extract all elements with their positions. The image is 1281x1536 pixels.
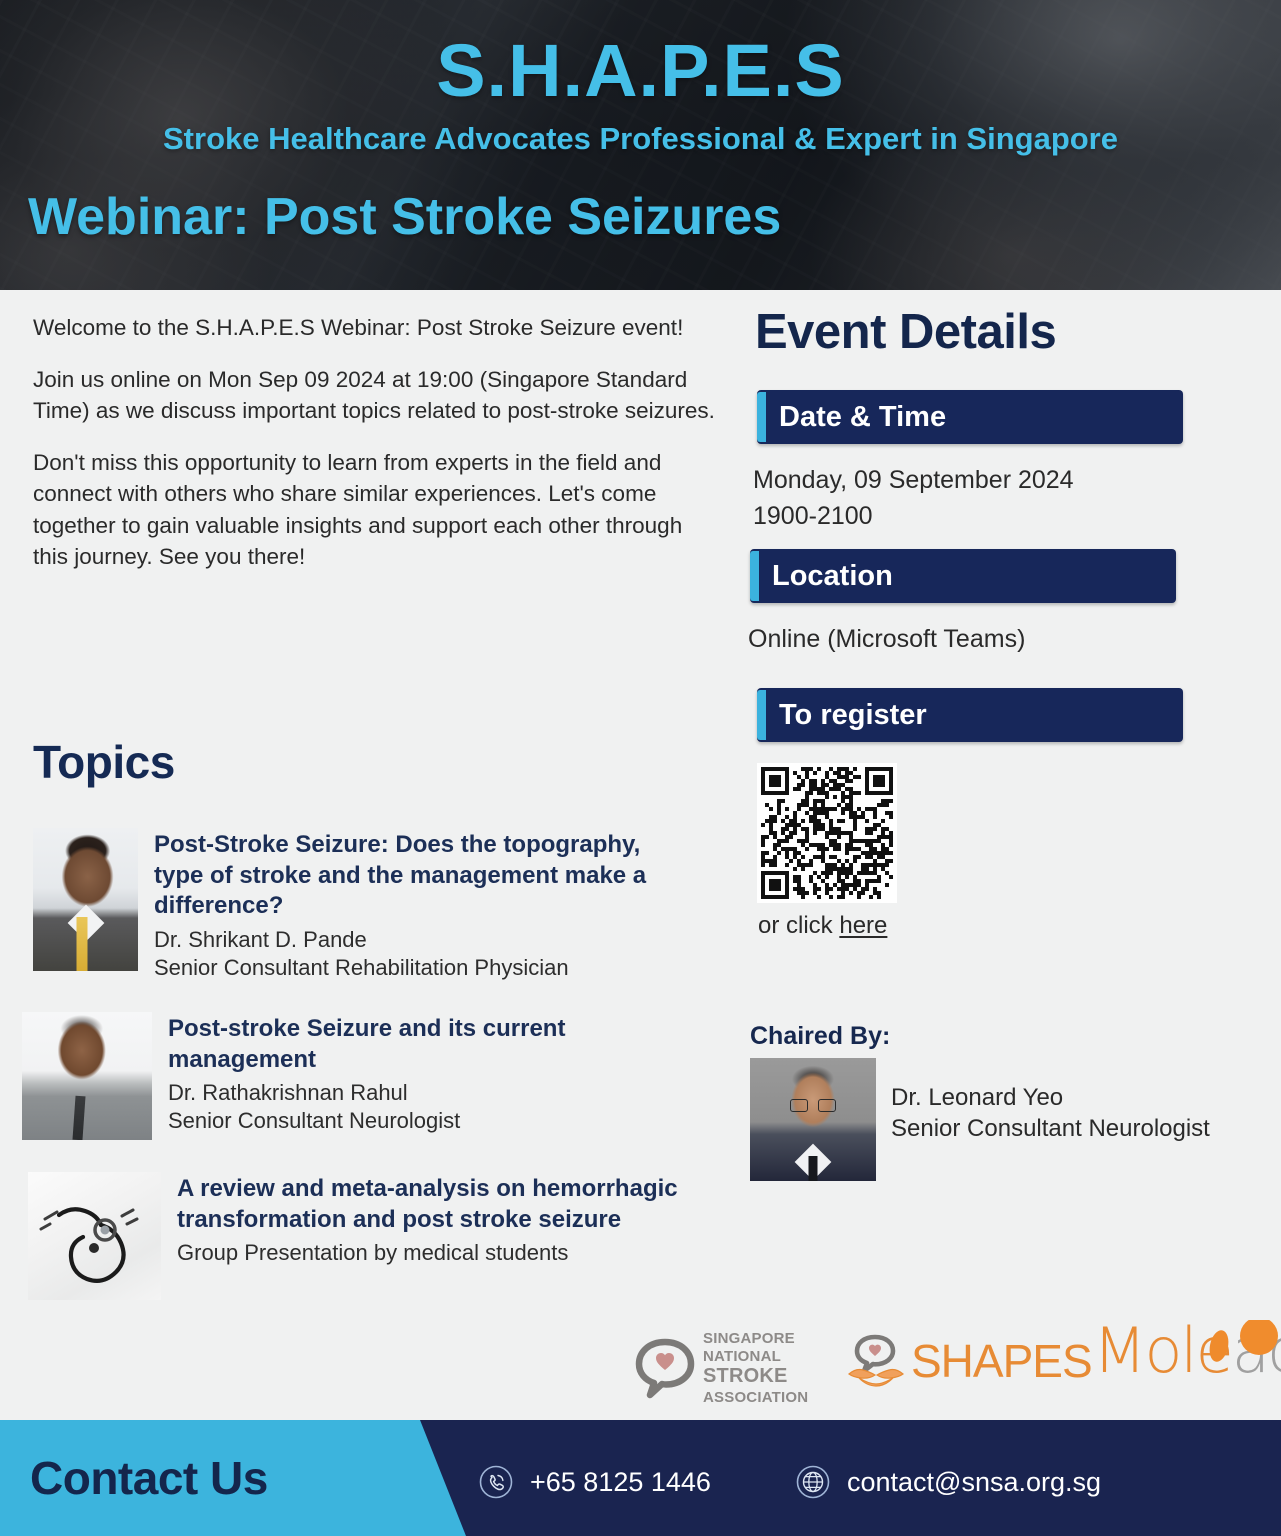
partner-logo-strip: SINGAPORE NATIONAL STROKE ASSOCIATION SH… <box>630 1316 1281 1416</box>
webinar-poster: S.H.A.P.E.S Stroke Healthcare Advocates … <box>0 0 1281 1536</box>
location-value: Online (Microsoft Teams) <box>748 622 1178 658</box>
intro-paragraph-1: Welcome to the S.H.A.P.E.S Webinar: Post… <box>33 312 723 344</box>
stethoscope-icon <box>28 1172 161 1300</box>
speaker-photo-shrikant-pande <box>33 828 138 971</box>
brand-title: S.H.A.P.E.S <box>0 34 1281 108</box>
chair-role: Senior Consultant Neurologist <box>891 1114 1210 1145</box>
topic-speaker-name: Dr. Rathakrishnan Rahul <box>168 1079 672 1107</box>
to-register-label: To register <box>757 699 927 732</box>
glasses-icon <box>790 1099 836 1112</box>
phone-number: +65 8125 1446 <box>530 1467 711 1498</box>
snsa-line-1: SINGAPORE <box>703 1330 808 1348</box>
brand-subtitle: Stroke Healthcare Advocates Professional… <box>0 120 1281 157</box>
to-register-header-bar: To register <box>757 688 1183 742</box>
here-link[interactable]: here <box>839 912 887 939</box>
snsa-line-4: ASSOCIATION <box>703 1389 808 1407</box>
registration-qr-code[interactable] <box>757 763 897 903</box>
snsa-line-3: STROKE <box>703 1365 808 1389</box>
speaker-photo-rathakrishnan-rahul <box>22 1012 152 1140</box>
topics-heading: Topics <box>33 735 175 789</box>
topic-speaker-role: Senior Consultant Rehabilitation Physici… <box>154 954 673 982</box>
chair-info: Dr. Leonard Yeo Senior Consultant Neurol… <box>891 1083 1210 1144</box>
intro-text-block: Welcome to the S.H.A.P.E.S Webinar: Post… <box>33 312 723 573</box>
snsa-speech-bubble-heart-icon <box>635 1337 695 1399</box>
topic-item: A review and meta-analysis on hemorrhagi… <box>28 1172 678 1300</box>
location-header-bar: Location <box>750 549 1176 603</box>
intro-paragraph-2: Join us online on Mon Sep 09 2024 at 19:… <box>33 364 723 427</box>
snsa-line-2: NATIONAL <box>703 1348 808 1366</box>
date-time-header-bar: Date & Time <box>757 390 1183 444</box>
location-label: Location <box>750 560 893 593</box>
contact-phone[interactable]: +65 8125 1446 <box>478 1464 711 1500</box>
header-banner: S.H.A.P.E.S Stroke Healthcare Advocates … <box>0 0 1281 290</box>
logo-singapore-national-stroke-association: SINGAPORE NATIONAL STROKE ASSOCIATION <box>635 1330 808 1407</box>
contact-email[interactable]: contact@snsa.org.sg <box>795 1464 1101 1500</box>
topic-speaker-name: Dr. Shrikant D. Pande <box>154 926 673 954</box>
topic-speaker-name: Group Presentation by medical students <box>177 1239 678 1267</box>
topic-item: Post-stroke Seizure and its current mana… <box>22 1012 672 1140</box>
topic-title: Post-Stroke Seizure: Does the topography… <box>154 830 673 922</box>
chair-name: Dr. Leonard Yeo <box>891 1083 1210 1114</box>
topic-speaker-role: Senior Consultant Neurologist <box>168 1107 672 1135</box>
date-time-value: Monday, 09 September 2024 1900-2100 <box>753 463 1183 534</box>
date-time-label: Date & Time <box>757 401 946 434</box>
contact-us-title: Contact Us <box>30 1451 268 1505</box>
topic-title: Post-stroke Seizure and its current mana… <box>168 1014 672 1075</box>
moleac-mol: Mol <box>1093 1314 1196 1387</box>
or-click-text: or click <box>758 912 839 939</box>
webinar-title: Webinar: Post Stroke Seizures <box>28 188 781 248</box>
event-details-heading: Event Details <box>755 304 1056 360</box>
chair-photo-leonard-yeo <box>750 1058 876 1181</box>
topic-title: A review and meta-analysis on hemorrhagi… <box>177 1174 678 1235</box>
phone-icon <box>478 1464 514 1500</box>
register-link-line: or click here <box>758 912 887 940</box>
globe-icon <box>795 1464 831 1500</box>
intro-paragraph-3: Don't miss this opportunity to learn fro… <box>33 447 723 573</box>
logo-moleac: Moleac <box>1093 1320 1281 1382</box>
stethoscope-image <box>28 1172 161 1300</box>
contact-footer: Contact Us +65 8125 1446 contact@snsa.or… <box>0 1420 1281 1536</box>
qr-code-image[interactable] <box>761 767 893 899</box>
shapes-hands-heart-icon <box>845 1334 907 1388</box>
chaired-by-label: Chaired By: <box>750 1022 890 1051</box>
logo-shapes: SHAPES <box>845 1334 1092 1388</box>
shapes-wordmark: SHAPES <box>911 1338 1092 1384</box>
email-address: contact@snsa.org.sg <box>847 1467 1101 1498</box>
moleac-dots-icon <box>1197 1320 1281 1372</box>
topic-item: Post-Stroke Seizure: Does the topography… <box>33 828 673 982</box>
